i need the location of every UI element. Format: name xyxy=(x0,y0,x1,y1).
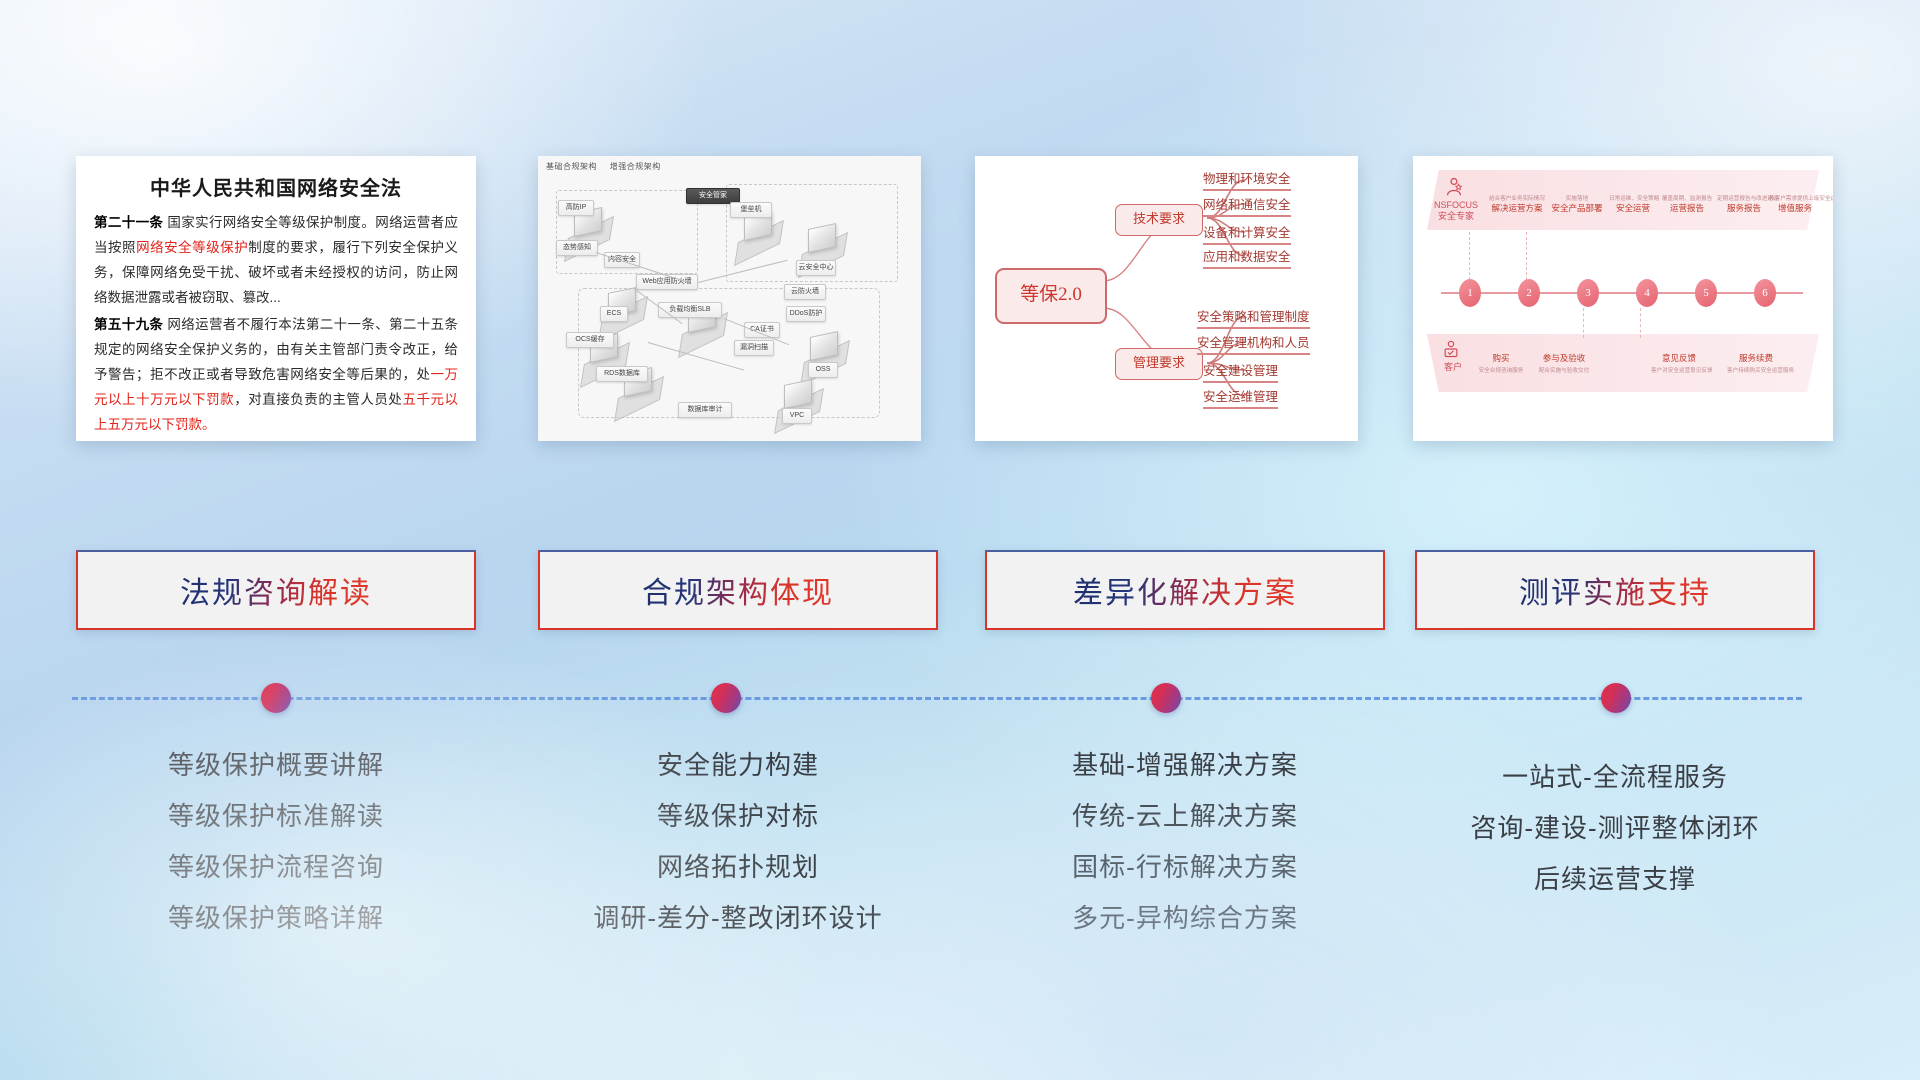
mindmap-leaf-tech-2: 网络和通信安全 xyxy=(1203,194,1291,217)
nsfocus-logo-line1: NSFOCUS xyxy=(1429,200,1483,211)
list-item: 等级保护概要讲解 xyxy=(76,740,476,791)
nsfocus-top-step-3-sub: 日常运维、安全策略 xyxy=(1609,194,1657,202)
category-box-2[interactable]: 合规架构体现 xyxy=(538,550,938,630)
law-document-body: 中华人民共和国网络安全法 第二十一条 国家实行网络安全等级保护制度。网络运营者应… xyxy=(76,156,476,441)
mindmap-leaf-mgmt-1: 安全策略和管理制度 xyxy=(1197,306,1310,329)
category-box-4[interactable]: 测评实施支持 xyxy=(1415,550,1815,630)
mindmap-leaf-mgmt-3: 安全建设管理 xyxy=(1203,360,1278,383)
poster-canvas: 中华人民共和国网络安全法 第二十一条 国家实行网络安全等级保护制度。网络运营者应… xyxy=(0,0,1920,1080)
nsfocus-canvas: NSFOCUS 安全专家 结合客户业务实际情况 解决运营方案 实施落地 安全产品… xyxy=(1413,156,1833,441)
list-item: 调研-差分-整改闭环设计 xyxy=(538,893,938,944)
law-article-21: 第二十一条 国家实行网络安全等级保护制度。网络运营者应当按照网络安全等级保护制度… xyxy=(94,211,458,311)
list-item: 基础-增强解决方案 xyxy=(985,740,1385,791)
nsfocus-bottom-step-1-sub: 安全合规咨询服务 xyxy=(1475,366,1527,374)
nsfocus-customer-label: 客户 xyxy=(1433,362,1473,373)
architecture-node-16: VPC xyxy=(782,408,812,424)
list-item: 咨询-建设-测评整体闭环 xyxy=(1415,803,1815,854)
nsfocus-bottom-step-4: 服务续费 客户持续购买安全运营服务 xyxy=(1727,352,1785,374)
architecture-header: 基础合规架构 增强合规架构 xyxy=(546,161,671,172)
mindmap-branch-technical: 技术要求 xyxy=(1115,204,1203,236)
nsfocus-top-step-2: 实施落地 安全产品部署 xyxy=(1549,192,1605,214)
law-article-21-label: 第二十一条 xyxy=(94,215,163,230)
nsfocus-top-step-3: 日常运维、安全策略 安全运营 xyxy=(1609,192,1657,214)
thumbnail-architecture-diagram[interactable]: 基础合规架构 增强合规架构 安全管家 高防IP 态势感知 堡垒机 云安全中 xyxy=(538,156,921,441)
nsfocus-step-dot-1: 1 xyxy=(1459,279,1481,307)
nsfocus-top-step-1-sub: 结合客户业务实际情况 xyxy=(1489,194,1545,202)
thumbnail-nsfocus-timeline[interactable]: NSFOCUS 安全专家 结合客户业务实际情况 解决运营方案 实施落地 安全产品… xyxy=(1413,156,1833,441)
list-item: 国标-行标解决方案 xyxy=(985,842,1385,893)
law-article-59: 第五十九条 网络运营者不履行本法第二十一条、第二十五条规定的网络安全保护义务的，… xyxy=(94,313,458,438)
nsfocus-top-step-4-title: 运营报告 xyxy=(1661,202,1713,214)
mindmap-leaf-tech-3: 设备和计算安全 xyxy=(1203,222,1291,245)
architecture-node-13: OCS缓存 xyxy=(566,332,614,348)
nsfocus-step-dot-5: 5 xyxy=(1695,279,1717,307)
thumbnail-law-document[interactable]: 中华人民共和国网络安全法 第二十一条 国家实行网络安全等级保护制度。网络运营者应… xyxy=(76,156,476,441)
nsfocus-top-step-5-sub: 定期运营报告与改进建议 xyxy=(1717,194,1771,202)
list-item: 网络拓扑规划 xyxy=(538,842,938,893)
customer-icon xyxy=(1441,338,1461,360)
architecture-node-2: 高防IP xyxy=(558,200,594,216)
nsfocus-bottom-step-2: 参与及验收 配合实施与验收交付 xyxy=(1535,352,1593,374)
nsfocus-top-step-3-title: 安全运营 xyxy=(1609,202,1657,214)
list-item: 等级保护策略详解 xyxy=(76,893,476,944)
architecture-canvas: 基础合规架构 增强合规架构 安全管家 高防IP 态势感知 堡垒机 云安全中 xyxy=(538,156,921,441)
list-item: 传统-云上解决方案 xyxy=(985,791,1385,842)
list-item: 等级保护流程咨询 xyxy=(76,842,476,893)
architecture-node-9: ECS xyxy=(600,306,628,322)
nsfocus-top-step-6-title: 增值服务 xyxy=(1769,202,1821,214)
nsfocus-top-step-1-title: 解决运营方案 xyxy=(1489,202,1545,214)
category-items-4: 一站式-全流程服务 咨询-建设-测评整体闭环 后续运营支撑 xyxy=(1415,752,1815,905)
nsfocus-bottom-step-4-title: 服务续费 xyxy=(1727,352,1785,364)
nsfocus-bottom-step-1: 购买 安全合规咨询服务 xyxy=(1475,352,1527,374)
category-items-3: 基础-增强解决方案 传统-云上解决方案 国标-行标解决方案 多元-异构综合方案 xyxy=(985,740,1385,944)
list-item: 多元-异构综合方案 xyxy=(985,893,1385,944)
nsfocus-top-step-2-sub: 实施落地 xyxy=(1549,194,1605,202)
nsfocus-top-step-4: 覆盖周期、监测报告 运营报告 xyxy=(1661,192,1713,214)
law-article-59-text-b: ，对直接负责的主管人员处 xyxy=(234,392,402,407)
mindmap-leaf-mgmt-2: 安全管理机构和人员 xyxy=(1197,332,1310,355)
timeline-dot-4[interactable] xyxy=(1601,683,1631,713)
law-article-21-highlight: 网络安全等级保护 xyxy=(136,240,248,255)
nsfocus-bottom-step-1-title: 购买 xyxy=(1475,352,1527,364)
nsfocus-tick-3 xyxy=(1583,308,1585,338)
nsfocus-tick-1 xyxy=(1469,232,1471,280)
nsfocus-top-step-6-sub: 按客户需求提供上级安全运营服务 xyxy=(1769,194,1821,202)
mindmap-canvas: 等保2.0 技术要求 管理要求 物理和环境安全 网络和通信安全 设备和计算安全 … xyxy=(975,156,1358,441)
category-box-3[interactable]: 差异化解决方案 xyxy=(985,550,1385,630)
category-label-2: 合规架构体现 xyxy=(642,568,834,612)
category-label-4: 测评实施支持 xyxy=(1519,568,1711,612)
mindmap-branch-management: 管理要求 xyxy=(1115,348,1203,380)
nsfocus-top-step-4-sub: 覆盖周期、监测报告 xyxy=(1661,194,1713,202)
nsfocus-top-step-5-title: 服务报告 xyxy=(1717,202,1771,214)
list-item: 等级保护对标 xyxy=(538,791,938,842)
architecture-header-basic: 基础合规架构 xyxy=(546,162,597,171)
category-items-1: 等级保护概要讲解 等级保护标准解读 等级保护流程咨询 等级保护策略详解 xyxy=(76,740,476,944)
nsfocus-top-step-2-title: 安全产品部署 xyxy=(1549,202,1605,214)
nsfocus-step-dot-2: 2 xyxy=(1518,279,1540,307)
architecture-node-14: RDS数据库 xyxy=(596,366,648,382)
nsfocus-bottom-step-2-sub: 配合实施与验收交付 xyxy=(1535,366,1593,374)
nsfocus-axis xyxy=(1441,292,1803,294)
nsfocus-logo-line2: 安全专家 xyxy=(1429,211,1483,222)
category-items-2: 安全能力构建 等级保护对标 网络拓扑规划 调研-差分-整改闭环设计 xyxy=(538,740,938,944)
timeline-dashed-line xyxy=(72,697,1802,703)
mindmap-leaf-tech-1: 物理和环境安全 xyxy=(1203,168,1291,191)
category-label-3: 差异化解决方案 xyxy=(1073,568,1297,612)
nsfocus-top-step-5: 定期运营报告与改进建议 服务报告 xyxy=(1717,192,1771,214)
category-box-1[interactable]: 法规咨询解读 xyxy=(76,550,476,630)
architecture-node-1: 堡垒机 xyxy=(730,202,772,218)
mindmap-root-node: 等保2.0 xyxy=(995,268,1107,324)
architecture-node-10: 负载均衡SLB xyxy=(658,302,722,318)
nsfocus-top-step-1: 结合客户业务实际情况 解决运营方案 xyxy=(1489,192,1545,214)
list-item: 等级保护标准解读 xyxy=(76,791,476,842)
timeline-dot-2[interactable] xyxy=(711,683,741,713)
mindmap-leaf-tech-4: 应用和数据安全 xyxy=(1203,246,1291,269)
mindmap-leaf-mgmt-4: 安全运维管理 xyxy=(1203,386,1278,409)
nsfocus-top-step-6: 按客户需求提供上级安全运营服务 增值服务 xyxy=(1769,192,1821,214)
timeline-dot-1[interactable] xyxy=(261,683,291,713)
architecture-node-12: 漏洞扫描 xyxy=(734,340,774,356)
nsfocus-step-dot-4: 4 xyxy=(1636,279,1658,307)
list-item: 安全能力构建 xyxy=(538,740,938,791)
architecture-node-7: 云防火墙 xyxy=(784,284,826,300)
law-title: 中华人民共和国网络安全法 xyxy=(94,172,458,201)
timeline-dot-3[interactable] xyxy=(1151,683,1181,713)
person-expert-icon xyxy=(1443,176,1465,198)
list-item: 一站式-全流程服务 xyxy=(1415,752,1815,803)
law-article-59-label: 第五十九条 xyxy=(94,317,163,332)
architecture-node-17: 数据库审计 xyxy=(678,402,732,418)
nsfocus-bottom-step-3: 意见反馈 客户对安全运营意见反馈 xyxy=(1651,352,1707,374)
nsfocus-tick-2 xyxy=(1526,232,1528,280)
nsfocus-tick-4 xyxy=(1640,308,1642,338)
list-item: 后续运营支撑 xyxy=(1415,854,1815,905)
thumbnail-mindmap[interactable]: 等保2.0 技术要求 管理要求 物理和环境安全 网络和通信安全 设备和计算安全 … xyxy=(975,156,1358,441)
architecture-header-enhanced: 增强合规架构 xyxy=(610,162,661,171)
architecture-node-15: OSS xyxy=(808,362,838,378)
nsfocus-step-dot-6: 6 xyxy=(1754,279,1776,307)
nsfocus-logo: NSFOCUS 安全专家 xyxy=(1429,200,1483,222)
architecture-node-11: CA证书 xyxy=(744,322,780,338)
nsfocus-bottom-step-3-sub: 客户对安全运营意见反馈 xyxy=(1651,366,1707,374)
nsfocus-step-dot-3: 3 xyxy=(1577,279,1599,307)
architecture-node-3: 态势感知 xyxy=(556,240,598,256)
nsfocus-bottom-step-3-title: 意见反馈 xyxy=(1651,352,1707,364)
category-label-1: 法规咨询解读 xyxy=(180,568,372,612)
nsfocus-bottom-step-2-title: 参与及验收 xyxy=(1535,352,1593,364)
thumbnail-row: 中华人民共和国网络安全法 第二十一条 国家实行网络安全等级保护制度。网络运营者应… xyxy=(0,150,1920,440)
architecture-node-4: 云安全中心 xyxy=(796,260,836,276)
nsfocus-bottom-step-4-sub: 客户持续购买安全运营服务 xyxy=(1727,366,1785,374)
architecture-node-8: DDoS防护 xyxy=(786,306,826,322)
